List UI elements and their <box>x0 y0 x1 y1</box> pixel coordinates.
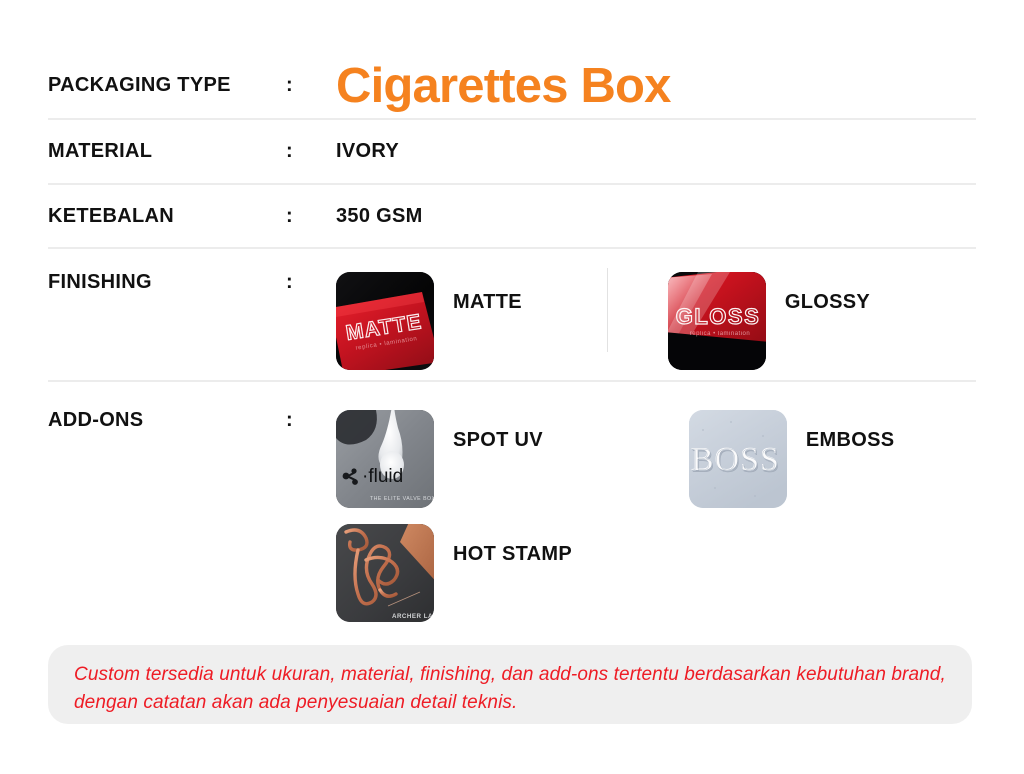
finishing-options: MATTE replica • lamination MATTE <box>336 272 870 370</box>
add-ons-option-hot-stamp-label: HOT STAMP <box>434 524 572 564</box>
custom-note-text: Custom tersedia untuk ukuran, material, … <box>74 661 954 716</box>
ketebalan-colon: : <box>286 206 336 226</box>
spot-uv-thumbnail[interactable]: ·fluid THE ELITE VALVE BOX <box>336 410 434 508</box>
hot-stamp-thumbnail-art: ARCHER LA <box>336 524 434 622</box>
emboss-thumbnail-art: BOSS BOSS BOSS <box>689 410 787 508</box>
material-colon: : <box>286 141 336 161</box>
separator-4 <box>48 380 976 382</box>
svg-text:ARCHER LA: ARCHER LA <box>392 613 433 620</box>
add-ons-colon: : <box>286 410 336 430</box>
finishing-option-matte-label: MATTE <box>434 272 522 312</box>
add-ons-option-hot-stamp[interactable]: ARCHER LA HOT STAMP <box>336 524 572 622</box>
hot-stamp-thumbnail[interactable]: ARCHER LA <box>336 524 434 622</box>
row-ketebalan: KETEBALAN : 350 GSM <box>48 206 976 226</box>
separator-1 <box>48 118 976 120</box>
ketebalan-label: KETEBALAN <box>48 206 286 226</box>
separator-2 <box>48 183 976 185</box>
packaging-type-label: PACKAGING TYPE <box>48 62 286 95</box>
svg-text:BOSS: BOSS <box>691 442 780 479</box>
row-finishing: FINISHING : <box>48 272 976 370</box>
finishing-colon: : <box>286 272 336 292</box>
add-ons-label: ADD-ONS <box>48 410 286 430</box>
ketebalan-value: 350 GSM <box>336 206 976 226</box>
add-ons-option-emboss-label: EMBOSS <box>787 410 894 450</box>
material-value: IVORY <box>336 141 976 161</box>
row-add-ons-second: ARCHER LA HOT STAMP <box>48 524 976 622</box>
row-material: MATERIAL : IVORY <box>48 141 976 161</box>
finishing-vertical-divider <box>607 268 608 352</box>
packaging-type-colon: : <box>286 62 336 95</box>
finishing-option-matte[interactable]: MATTE replica • lamination MATTE <box>336 272 522 370</box>
svg-text:replica • lamination: replica • lamination <box>690 331 750 337</box>
add-ons-option-emboss[interactable]: BOSS BOSS BOSS EMBOSS <box>689 410 894 508</box>
svg-text:·fluid: ·fluid <box>362 466 403 487</box>
finishing-option-glossy[interactable]: GLOSS replica • lamination GLOSSY <box>668 272 870 370</box>
gloss-thumbnail-art: GLOSS replica • lamination <box>668 272 766 370</box>
add-ons-option-spot-uv[interactable]: ·fluid THE ELITE VALVE BOX SPOT UV <box>336 410 543 508</box>
add-ons-option-spot-uv-label: SPOT UV <box>434 410 543 450</box>
row-add-ons: ADD-ONS : <box>48 410 976 508</box>
custom-note-panel: Custom tersedia untuk ukuran, material, … <box>48 645 972 724</box>
separator-3 <box>48 247 976 249</box>
emboss-thumbnail[interactable]: BOSS BOSS BOSS <box>689 410 787 508</box>
svg-text:GLOSS: GLOSS <box>676 304 761 329</box>
matte-thumbnail-art: MATTE replica • lamination <box>336 272 434 370</box>
material-label: MATERIAL <box>48 141 286 161</box>
svg-text:THE ELITE VALVE BOX: THE ELITE VALVE BOX <box>370 496 434 502</box>
matte-lamination-thumbnail[interactable]: MATTE replica • lamination <box>336 272 434 370</box>
add-ons-options-bottom: ARCHER LA HOT STAMP <box>336 524 572 622</box>
finishing-label: FINISHING <box>48 272 286 292</box>
gloss-lamination-thumbnail[interactable]: GLOSS replica • lamination <box>668 272 766 370</box>
finishing-option-glossy-label: GLOSSY <box>766 272 870 312</box>
spot-uv-thumbnail-art: ·fluid THE ELITE VALVE BOX <box>336 410 434 508</box>
page-title: Cigarettes Box <box>336 62 671 111</box>
row-packaging-type: PACKAGING TYPE : Cigarettes Box <box>48 62 976 111</box>
add-ons-options-top: ·fluid THE ELITE VALVE BOX SPOT UV <box>336 410 894 508</box>
packaging-spec-sheet: PACKAGING TYPE : Cigarettes Box MATERIAL… <box>0 0 1024 774</box>
